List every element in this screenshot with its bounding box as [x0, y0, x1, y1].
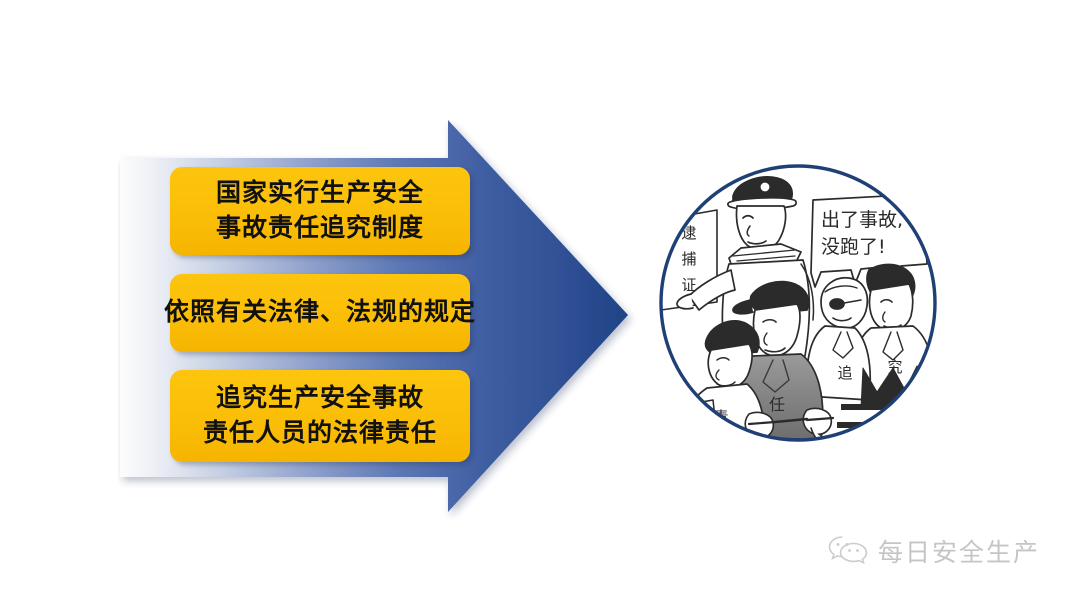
warrant-char-2: 捕	[681, 250, 696, 268]
statement-2-line-1: 依照有关法律、法规的规定	[164, 295, 476, 331]
watermark-text: 每日安全生产	[878, 533, 1040, 569]
statement-1-line-1: 国家实行生产安全	[216, 176, 424, 212]
back-label-2: 任	[769, 395, 785, 414]
slide-canvas: 国家实行生产安全 事故责任追究制度 依照有关法律、法规的规定 追究生产安全事故 …	[0, 0, 1080, 608]
accountability-cartoon: 逮 捕 证	[655, 160, 941, 446]
speech-line-2: 没跑了!	[821, 236, 886, 258]
back-label-3: 追	[837, 364, 852, 382]
statement-box-1[interactable]: 国家实行生产安全 事故责任追究制度	[170, 167, 470, 255]
statement-1-line-2: 事故责任追究制度	[216, 211, 424, 247]
speech-line-1: 出了事故,	[821, 209, 903, 231]
statement-3-line-2: 责任人员的法律责任	[203, 416, 437, 452]
statement-box-3[interactable]: 追究生产安全事故 责任人员的法律责任	[170, 370, 470, 462]
statement-3-line-1: 追究生产安全事故	[216, 381, 424, 417]
watermark: 每日安全生产	[828, 533, 1040, 569]
statement-box-2[interactable]: 依照有关法律、法规的规定	[170, 274, 470, 352]
wechat-icon	[828, 534, 868, 569]
